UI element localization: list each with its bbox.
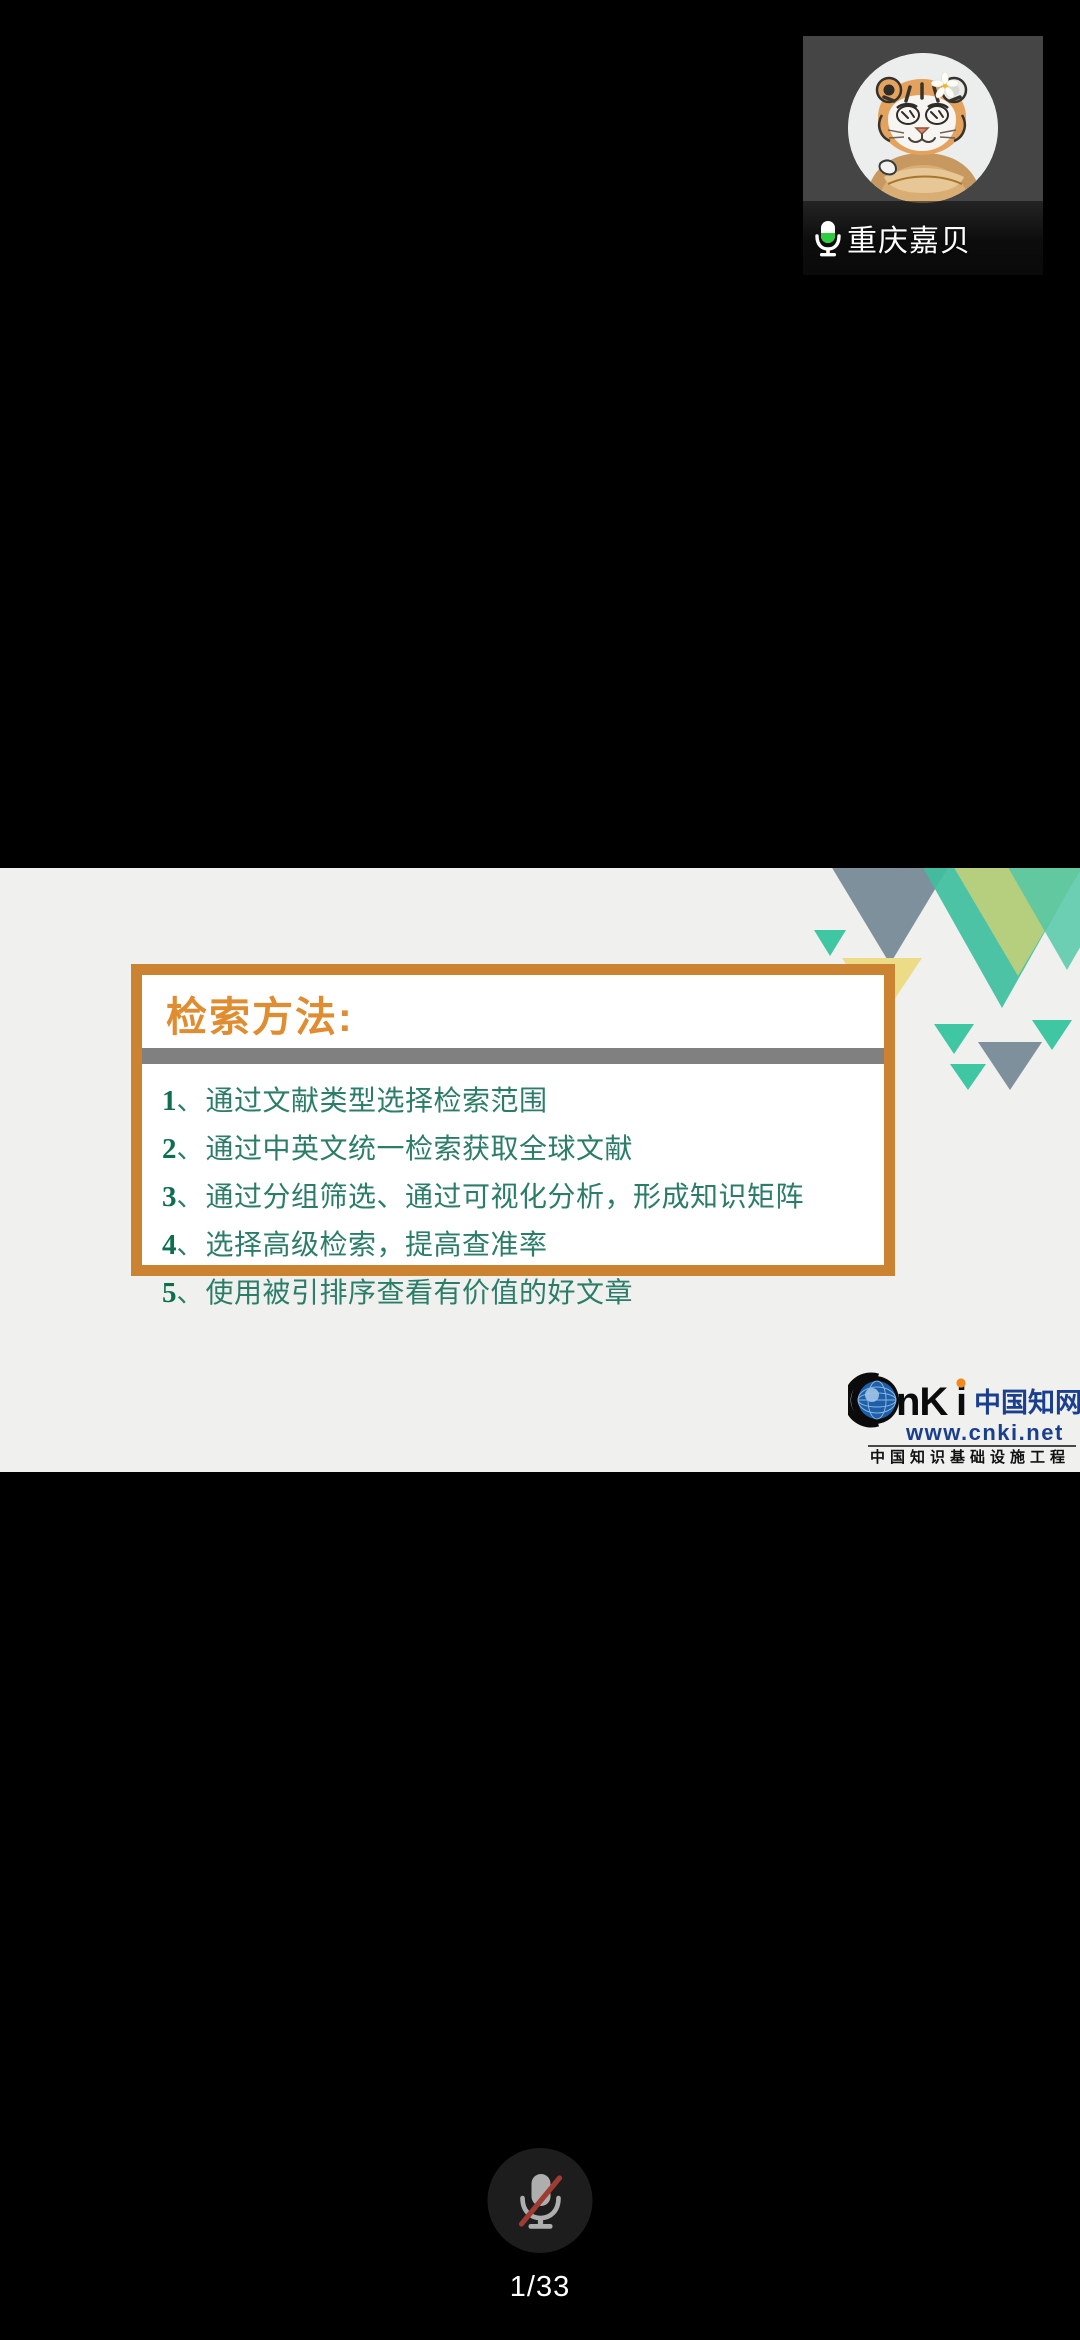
list-item: 5 、 使用被引排序查看有价值的好文章: [162, 1271, 872, 1319]
avatar: [848, 53, 998, 203]
list-item: 3 、 通过分组筛选、通过可视化分析，形成知识矩阵: [162, 1175, 872, 1223]
bullet-text: 使用被引排序查看有价值的好文章: [206, 1271, 634, 1311]
participant-footer: 重庆嘉贝: [803, 201, 1043, 275]
bullet-number: 4: [162, 1229, 177, 1262]
bullet-separator: 、: [177, 1175, 204, 1214]
svg-text:nK: nK: [896, 1380, 948, 1424]
bullet-number: 3: [162, 1181, 177, 1214]
svg-text:中国知网: 中国知网: [974, 1388, 1080, 1418]
list-item: 2 、 通过中英文统一检索获取全球文献: [162, 1127, 872, 1175]
list-item: 4 、 选择高级检索，提高查准率: [162, 1223, 872, 1271]
bullet-text: 通过文献类型选择检索范围: [206, 1079, 548, 1119]
slide-title: 检索方法:: [166, 983, 354, 1043]
bullet-number: 2: [162, 1133, 177, 1166]
svg-text:www.cnki.net: www.cnki.net: [905, 1420, 1064, 1445]
bullet-text: 通过分组筛选、通过可视化分析，形成知识矩阵: [206, 1175, 805, 1215]
participant-video-tile[interactable]: 重庆嘉贝: [803, 36, 1043, 275]
participant-name: 重庆嘉贝: [847, 216, 971, 260]
svg-text:中国知识基础设施工程: 中国知识基础设施工程: [870, 1448, 1070, 1466]
list-item: 1 、 通过文献类型选择检索范围: [162, 1079, 872, 1127]
bullet-number: 5: [162, 1277, 177, 1310]
page-indicator: 1/33: [0, 2271, 1080, 2304]
slide-content-box: 检索方法: 1 、 通过文献类型选择检索范围 2 、 通过中英文统一检索获取全球…: [131, 964, 895, 1276]
bullet-number: 1: [162, 1085, 177, 1118]
bullet-separator: 、: [177, 1079, 204, 1118]
bullet-text: 通过中英文统一检索获取全球文献: [206, 1127, 634, 1167]
bullet-text: 选择高级检索，提高查准率: [206, 1223, 548, 1263]
bullet-separator: 、: [177, 1271, 204, 1310]
bullet-list: 1 、 通过文献类型选择检索范围 2 、 通过中英文统一检索获取全球文献 3 、…: [162, 1079, 872, 1319]
bullet-separator: 、: [177, 1223, 204, 1262]
bullet-separator: 、: [177, 1127, 204, 1166]
cnki-logo: nK i 中国知网 www.cnki.net 中国知识基础设施工程: [848, 1370, 1080, 1466]
mic-mute-toggle-button[interactable]: [488, 2148, 593, 2253]
microphone-muted-icon: [511, 2170, 569, 2232]
shared-slide[interactable]: 检索方法: 1 、 通过文献类型选择检索范围 2 、 通过中英文统一检索获取全球…: [0, 868, 1080, 1472]
title-divider: [142, 1048, 884, 1064]
microphone-active-icon: [811, 218, 845, 258]
tiger-avatar-image: [848, 53, 998, 203]
